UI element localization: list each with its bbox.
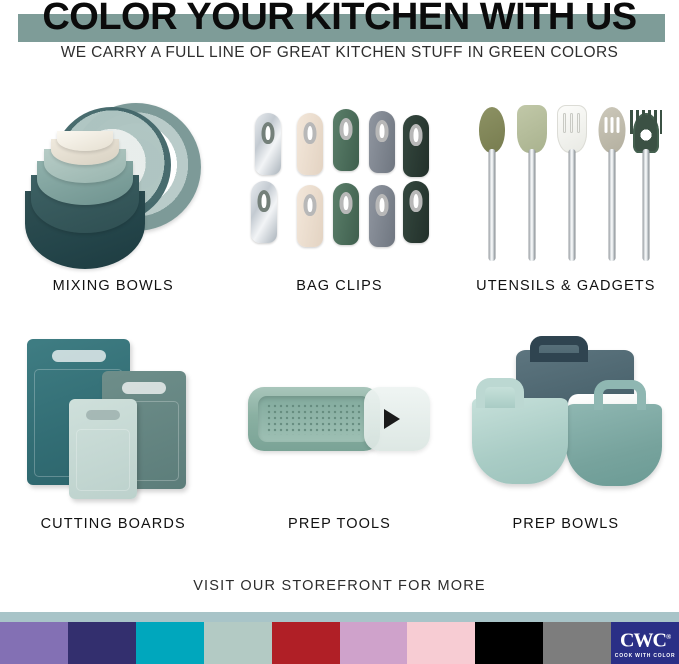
bag-clip-green-icon — [333, 183, 359, 245]
prep-tools-image — [226, 324, 452, 514]
category-card-prep-tools[interactable]: PREP TOOLS — [226, 324, 452, 552]
bag-clips-image — [226, 86, 452, 276]
bag-clip-cream-icon — [297, 185, 323, 247]
cwc-tagline: COOK WITH COLOR — [615, 653, 676, 659]
storefront-callout[interactable]: VISIT OUR STOREFRONT FOR MORE — [0, 578, 679, 594]
category-grid: MIXING BOWLS BAG CLIPS — [0, 86, 679, 552]
category-label: CUTTING BOARDS — [41, 516, 186, 532]
promo-page: COLOR YOUR KITCHEN WITH US WE CARRY A FU… — [0, 0, 679, 664]
bag-clip-marble-icon — [255, 113, 281, 175]
page-subtitle: WE CARRY A FULL LINE OF GREAT KITCHEN ST… — [0, 44, 679, 62]
page-title: COLOR YOUR KITCHEN WITH US — [0, 0, 679, 39]
bag-clip-dark-icon — [403, 115, 429, 177]
bag-clip-dark-icon — [403, 181, 429, 243]
play-arrow-icon — [384, 409, 400, 429]
swatch-brand-logo[interactable]: CWC® COOK WITH COLOR — [611, 622, 679, 664]
category-label: PREP BOWLS — [513, 516, 620, 532]
prep-bowl-mint-icon — [472, 398, 568, 484]
cutting-board-small-icon — [69, 399, 137, 499]
swatch-orchid — [340, 622, 408, 664]
prep-bowl-teal-icon — [566, 404, 662, 486]
category-label: PREP TOOLS — [288, 516, 391, 532]
registered-icon: ® — [666, 633, 670, 641]
category-card-mixing-bowls[interactable]: MIXING BOWLS — [0, 86, 226, 314]
colander-clear-end-icon — [364, 387, 430, 451]
category-label: UTENSILS & GADGETS — [476, 278, 655, 294]
swatch-red — [272, 622, 340, 664]
category-label: BAG CLIPS — [296, 278, 382, 294]
swatch-purple — [0, 622, 68, 664]
swatch-black — [475, 622, 543, 664]
color-swatch-bar: CWC® COOK WITH COLOR — [0, 622, 679, 664]
bag-clip-gray-icon — [369, 111, 395, 173]
mixing-bowls-image — [0, 86, 226, 276]
cwc-logo: CWC® COOK WITH COLOR — [611, 622, 679, 664]
footer-top-strip — [0, 612, 679, 622]
cutting-boards-image — [0, 324, 226, 514]
bag-clip-cream-icon — [297, 113, 323, 175]
swatch-teal — [136, 622, 204, 664]
swatch-light-pink — [407, 622, 475, 664]
colander-icon — [248, 387, 380, 451]
bag-clip-green-icon — [333, 109, 359, 171]
cwc-letters: CWC — [620, 630, 666, 652]
category-card-cutting-boards[interactable]: CUTTING BOARDS — [0, 324, 226, 552]
prep-bowls-image — [453, 324, 679, 514]
swatch-sage-gray — [204, 622, 272, 664]
page-header: COLOR YOUR KITCHEN WITH US WE CARRY A FU… — [0, 0, 679, 78]
category-card-prep-bowls[interactable]: PREP BOWLS — [453, 324, 679, 552]
utensils-image — [453, 86, 679, 276]
category-card-utensils-gadgets[interactable]: UTENSILS & GADGETS — [453, 86, 679, 314]
cwc-wordmark: CWC® — [620, 627, 670, 651]
swatch-navy — [68, 622, 136, 664]
bag-clip-marble-icon — [251, 181, 277, 243]
swatch-gray — [543, 622, 611, 664]
category-label: MIXING BOWLS — [53, 278, 174, 294]
category-card-bag-clips[interactable]: BAG CLIPS — [226, 86, 452, 314]
bag-clip-gray-icon — [369, 185, 395, 247]
